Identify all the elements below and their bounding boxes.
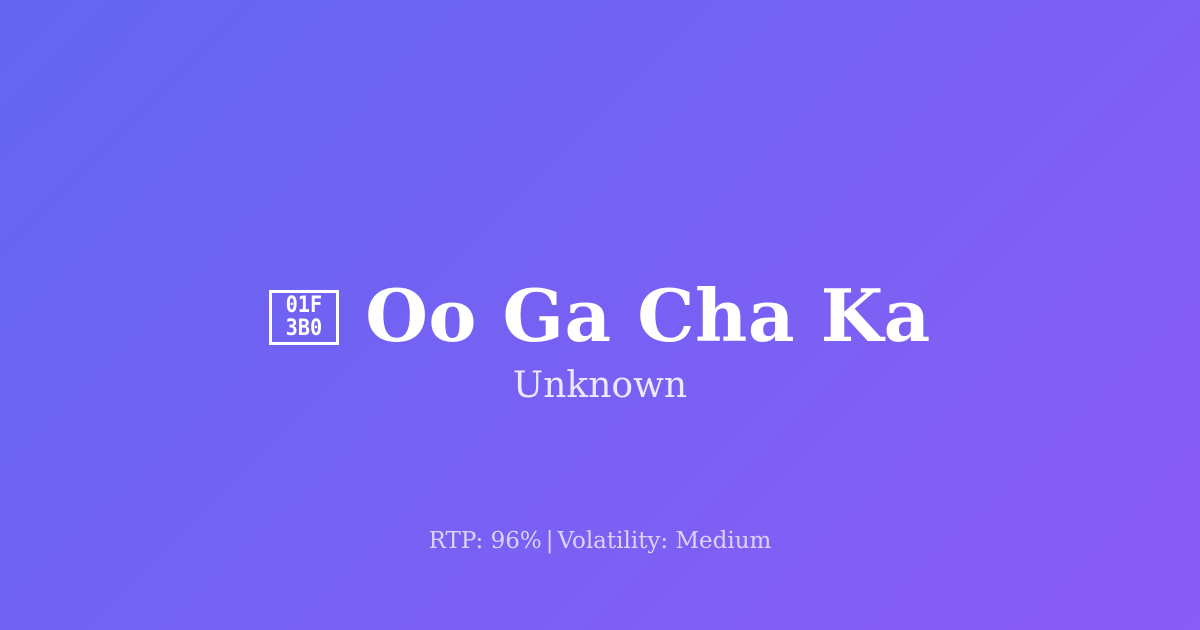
game-promo-card: 01F 3B0 Oo Ga Cha Ka Unknown RTP: 96%|Vo… xyxy=(0,0,1200,630)
game-provider: Unknown xyxy=(0,366,1200,406)
tofu-codepoint-bottom: 3B0 xyxy=(286,317,323,340)
slot-machine-icon: 01F 3B0 xyxy=(269,290,339,345)
volatility-value: Volatility: Medium xyxy=(557,528,771,554)
rtp-value: RTP: 96% xyxy=(429,528,542,554)
game-title: Oo Ga Cha Ka xyxy=(365,280,931,352)
game-meta: RTP: 96%|Volatility: Medium xyxy=(0,528,1200,556)
tofu-codepoint-top: 01F xyxy=(286,294,323,317)
meta-separator: | xyxy=(542,528,558,554)
